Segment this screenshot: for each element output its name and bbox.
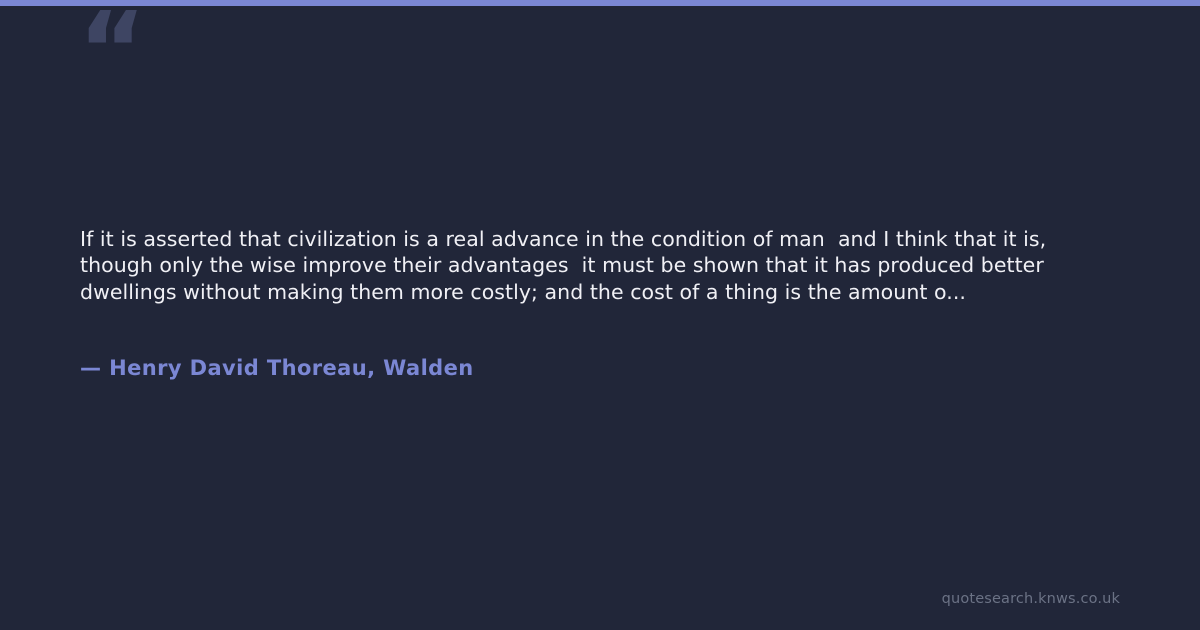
top-accent-bar [0,0,1200,6]
quote-attribution: — Henry David Thoreau, Walden [80,354,474,382]
quote-text: If it is asserted that civilization is a… [80,226,1124,305]
opening-quote-icon: “ [78,0,144,102]
source-website-label: quotesearch.knws.co.uk [942,590,1120,608]
quote-card: “ If it is asserted that civilization is… [0,0,1200,630]
